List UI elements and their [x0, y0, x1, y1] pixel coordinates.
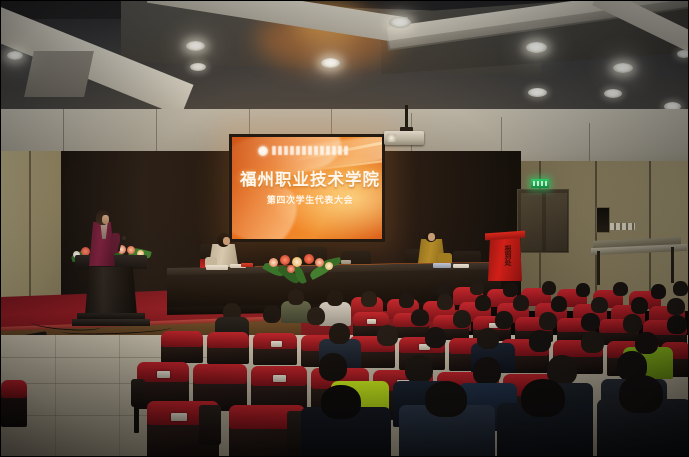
seat-number-plate: [367, 319, 376, 324]
blue-folder: [433, 263, 451, 268]
ceiling: [1, 1, 689, 121]
seat-number-plate: [171, 413, 187, 421]
seat-number-plate: [157, 371, 170, 378]
red-folder: [241, 263, 253, 267]
speaker-podium: [85, 267, 137, 315]
red-cup: [200, 259, 205, 268]
panel-member-left-face: [223, 237, 230, 245]
microphone-icon: [122, 236, 126, 240]
projector-lens-icon: [387, 134, 396, 142]
wall-window: [596, 207, 610, 233]
exit-doorway[interactable]: [517, 189, 569, 253]
seat-number-plate: [273, 375, 286, 382]
panel-member-right-face: [428, 233, 435, 241]
seat-number-plate: [271, 341, 282, 347]
papers: [341, 260, 351, 264]
screen-subtitle: 第四次学生代表大会: [238, 193, 382, 206]
papers: [453, 264, 469, 268]
table-flower-arrangement: [263, 253, 341, 279]
wall-light-switches[interactable]: [610, 223, 635, 230]
screen-title: 福州职业技术学院: [238, 166, 382, 190]
exit-sign: [531, 179, 549, 188]
auditorium-photo: 福州职业技术学院 第四次学生代表大会: [0, 0, 689, 457]
projection-screen: 福州职业技术学院 第四次学生代表大会: [229, 134, 385, 242]
papers: [206, 265, 228, 270]
screen-logo-icon: [258, 146, 268, 156]
screen-logo-text: [272, 146, 350, 155]
red-lectern-label: 报到处: [500, 245, 511, 271]
speaker-face: [102, 215, 109, 224]
